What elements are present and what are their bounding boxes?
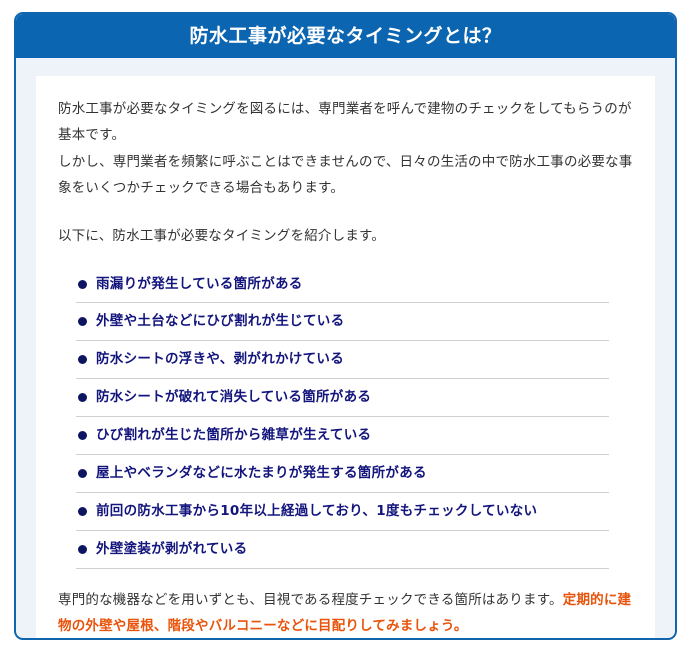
filled-circle-bullet-icon (78, 507, 87, 516)
list-item: 屋上やベランダなどに水たまりが発生する箇所がある (76, 455, 609, 493)
filled-circle-bullet-icon (78, 280, 87, 289)
list-item: 外壁や土台などにひび割れが生じている (76, 303, 609, 341)
checklist: 雨漏りが発生している箇所がある 外壁や土台などにひび割れが生じている 防水シート… (58, 266, 633, 569)
filled-circle-bullet-icon (78, 469, 87, 478)
list-item-label: 屋上やベランダなどに水たまりが発生する箇所がある (96, 464, 427, 483)
page-title: 防水工事が必要なタイミングとは？ (189, 27, 501, 46)
info-card: 防水工事が必要なタイミングとは？ 防水工事が必要なタイミングを図るには、専門業者… (14, 12, 677, 640)
card-header: 防水工事が必要なタイミングとは？ (16, 14, 675, 58)
list-item-label: 防水シートの浮きや、剥がれかけている (96, 350, 344, 369)
filled-circle-bullet-icon (78, 355, 87, 364)
list-item: 雨漏りが発生している箇所がある (76, 266, 609, 304)
card-content: 防水工事が必要なタイミングを図るには、専門業者を呼んで建物のチェックをしてもらう… (36, 76, 655, 640)
list-item: 防水シートが破れて消失している箇所がある (76, 379, 609, 417)
card-body-padding: 防水工事が必要なタイミングを図るには、専門業者を呼んで建物のチェックをしてもらう… (16, 58, 675, 640)
list-item-label: 防水シートが破れて消失している箇所がある (96, 388, 371, 407)
outro-plain-text: 専門的な機器などを用いずとも、目視である程度チェックできる箇所はあります。 (58, 592, 563, 608)
list-item-label: 雨漏りが発生している箇所がある (96, 275, 303, 294)
list-item: 前回の防水工事から10年以上経過しており、1度もチェックしていない (76, 493, 609, 531)
filled-circle-bullet-icon (78, 545, 87, 554)
list-item-label: 前回の防水工事から10年以上経過しており、1度もチェックしていない (96, 502, 537, 521)
list-item: 防水シートの浮きや、剥がれかけている (76, 341, 609, 379)
filled-circle-bullet-icon (78, 431, 87, 440)
list-item-label: 外壁や土台などにひび割れが生じている (96, 312, 344, 331)
list-item: 外壁塗装が剥がれている (76, 531, 609, 569)
outro-paragraph: 専門的な機器などを用いずとも、目視である程度チェックできる箇所はあります。定期的… (58, 587, 633, 640)
filled-circle-bullet-icon (78, 317, 87, 326)
list-item-label: ひび割れが生じた箇所から雑草が生えている (96, 426, 371, 445)
filled-circle-bullet-icon (78, 393, 87, 402)
lead-paragraph: 以下に、防水工事が必要なタイミングを紹介します。 (58, 223, 633, 249)
list-item-label: 外壁塗装が剥がれている (96, 540, 247, 559)
list-item: ひび割れが生じた箇所から雑草が生えている (76, 417, 609, 455)
intro-paragraph: 防水工事が必要なタイミングを図るには、専門業者を呼んで建物のチェックをしてもらう… (58, 96, 633, 201)
